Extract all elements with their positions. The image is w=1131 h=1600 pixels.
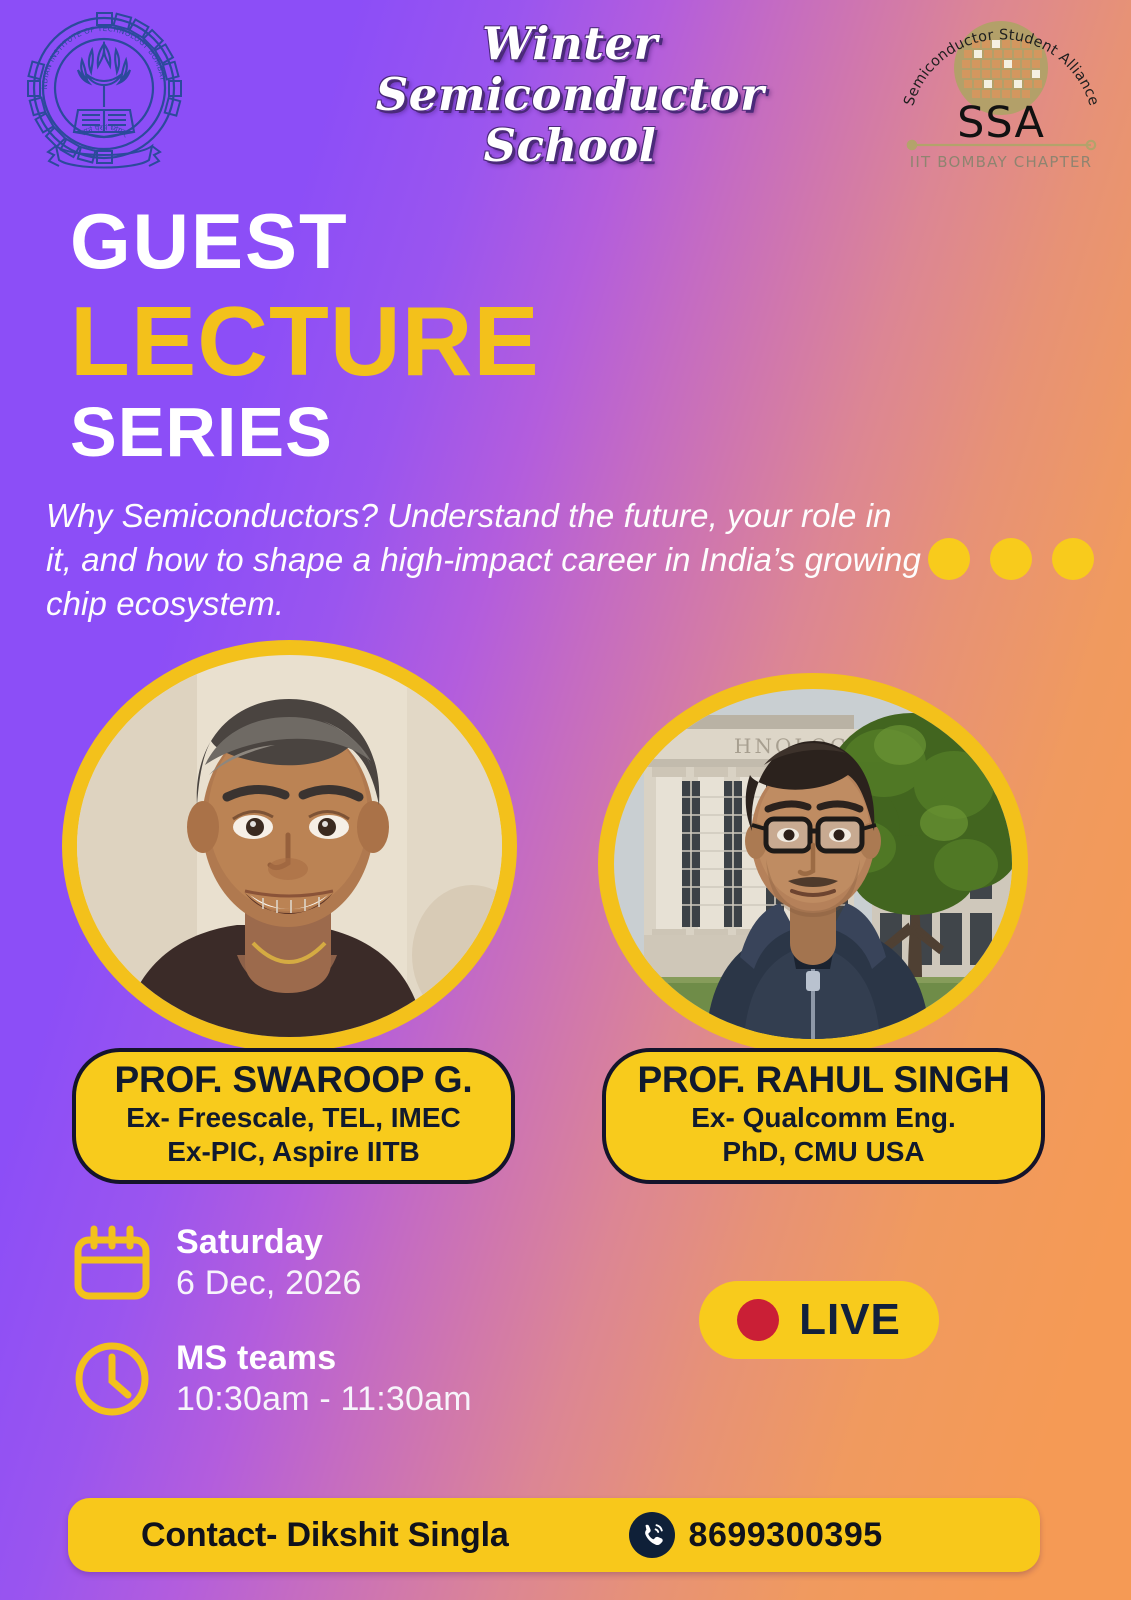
live-badge: LIVE <box>699 1281 939 1359</box>
detail-date: Saturday 6 Dec, 2026 <box>72 1222 362 1304</box>
contact-bar: Contact- Dikshit Singla 8699300395 <box>68 1498 1040 1572</box>
poster-canvas: INDIAN INSTITUTE OF TECHNOLOGY BOMBAY ज्… <box>0 0 1131 1600</box>
phone-ring-icon <box>629 1512 675 1558</box>
speaker-1-photo-frame <box>62 640 517 1052</box>
speaker-2-name-plate: PROF. RAHUL SINGH Ex- Qualcomm Eng. PhD,… <box>602 1048 1045 1184</box>
event-title-line-1: Winter <box>340 18 800 69</box>
heading-series: SERIES <box>70 392 333 472</box>
speaker-1-photo <box>77 655 502 1037</box>
speaker-2-photo: HNOLOGY <box>614 689 1012 1039</box>
speaker-2-affil-line2: PhD, CMU USA <box>620 1135 1027 1169</box>
detail-date-primary: Saturday <box>176 1222 362 1262</box>
contact-phone-group: 8699300395 <box>629 1512 883 1558</box>
speaker-1-name: PROF. SWAROOP G. <box>90 1059 497 1101</box>
svg-text:SSA: SSA <box>957 98 1045 148</box>
speaker-1-affil-line2: Ex-PIC, Aspire IITB <box>90 1135 497 1169</box>
iit-bombay-logo: INDIAN INSTITUTE OF TECHNOLOGY BOMBAY ज्… <box>22 8 187 176</box>
clock-icon <box>72 1339 164 1419</box>
dot-3 <box>1052 538 1094 580</box>
event-title-line-3: School <box>340 120 800 171</box>
speaker-1-name-plate: PROF. SWAROOP G. Ex- Freescale, TEL, IME… <box>72 1048 515 1184</box>
detail-time-primary: MS teams <box>176 1338 472 1378</box>
detail-date-secondary: 6 Dec, 2026 <box>176 1262 362 1304</box>
event-title: Winter Semiconductor School <box>340 18 800 171</box>
event-title-line-2: Semiconductor <box>340 69 800 120</box>
live-label: LIVE <box>799 1295 901 1345</box>
ssa-logo: Semiconductor Student Alliance SSA IIT B… <box>894 2 1109 172</box>
contact-phone-number: 8699300395 <box>689 1516 883 1555</box>
speaker-1-affil-line1: Ex- Freescale, TEL, IMEC <box>90 1101 497 1135</box>
heading-lecture: LECTURE <box>70 285 540 398</box>
decorative-dots <box>928 538 1094 580</box>
heading-guest: GUEST <box>70 196 349 287</box>
contact-name: Contact- Dikshit Singla <box>141 1516 509 1555</box>
poster-subtitle: Why Semiconductors? Understand the futur… <box>46 494 926 626</box>
speaker-2-photo-frame: HNOLOGY <box>598 673 1028 1055</box>
record-dot-icon <box>737 1299 779 1341</box>
detail-time: MS teams 10:30am - 11:30am <box>72 1338 472 1420</box>
poster-header: INDIAN INSTITUTE OF TECHNOLOGY BOMBAY ज्… <box>0 0 1131 185</box>
dot-1 <box>928 538 970 580</box>
detail-time-secondary: 10:30am - 11:30am <box>176 1378 472 1420</box>
speaker-2-affil-line1: Ex- Qualcomm Eng. <box>620 1101 1027 1135</box>
calendar-icon <box>72 1224 164 1302</box>
speaker-2-name: PROF. RAHUL SINGH <box>620 1059 1027 1101</box>
svg-text:IIT BOMBAY CHAPTER: IIT BOMBAY CHAPTER <box>910 153 1093 171</box>
dot-2 <box>990 538 1032 580</box>
